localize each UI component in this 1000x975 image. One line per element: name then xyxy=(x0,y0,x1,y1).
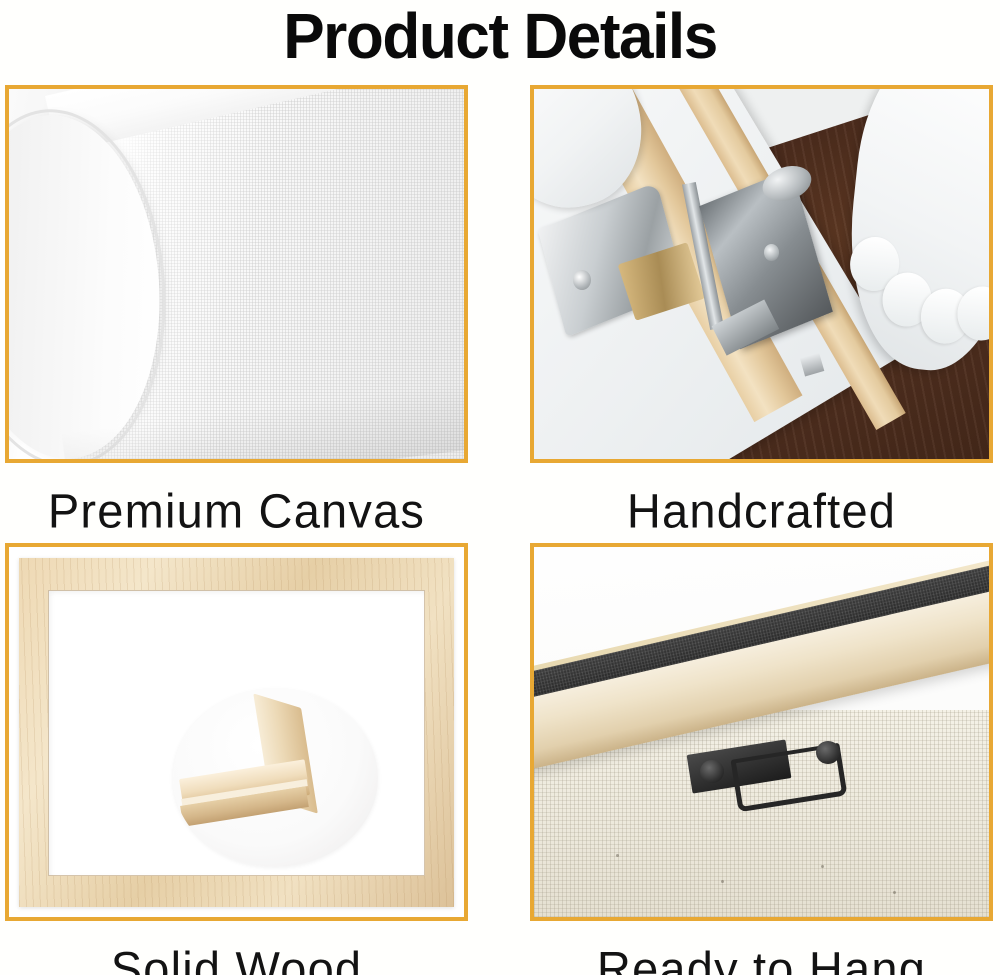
feature-cell-ready-to-hang: Ready to Hang xyxy=(530,543,993,975)
feature-cell-premium-canvas: Premium Canvas xyxy=(5,85,468,525)
handcrafted-image xyxy=(534,89,989,459)
feature-caption-premium-canvas: Premium Canvas xyxy=(5,482,468,538)
solid-wood-image xyxy=(9,547,464,917)
feature-cell-handcrafted: Handcrafted xyxy=(530,85,993,525)
page-title: Product Details xyxy=(15,0,985,76)
feature-caption-handcrafted: Handcrafted xyxy=(530,482,993,538)
cloth-specks xyxy=(534,547,989,917)
cloth-speck xyxy=(721,880,724,883)
ready-to-hang-image-frame xyxy=(530,543,993,921)
feature-caption-solid-wood: Solid Wood xyxy=(5,940,468,975)
pliers-pivot-pin xyxy=(573,270,591,290)
ready-to-hang-image xyxy=(534,547,989,917)
solid-wood-image-frame xyxy=(5,543,468,921)
corner-joint-inset xyxy=(173,689,378,867)
premium-canvas-image xyxy=(9,89,464,459)
cloth-speck xyxy=(893,891,896,894)
cloth-speck xyxy=(821,865,824,868)
premium-canvas-image-frame xyxy=(5,85,468,463)
cloth-speck xyxy=(616,854,619,857)
feature-caption-ready-to-hang: Ready to Hang xyxy=(530,940,993,975)
product-details-infographic: Product Details Premium Canvas xyxy=(0,0,1000,975)
feature-cell-solid-wood: Solid Wood xyxy=(5,543,468,975)
handcrafted-image-frame xyxy=(530,85,993,463)
